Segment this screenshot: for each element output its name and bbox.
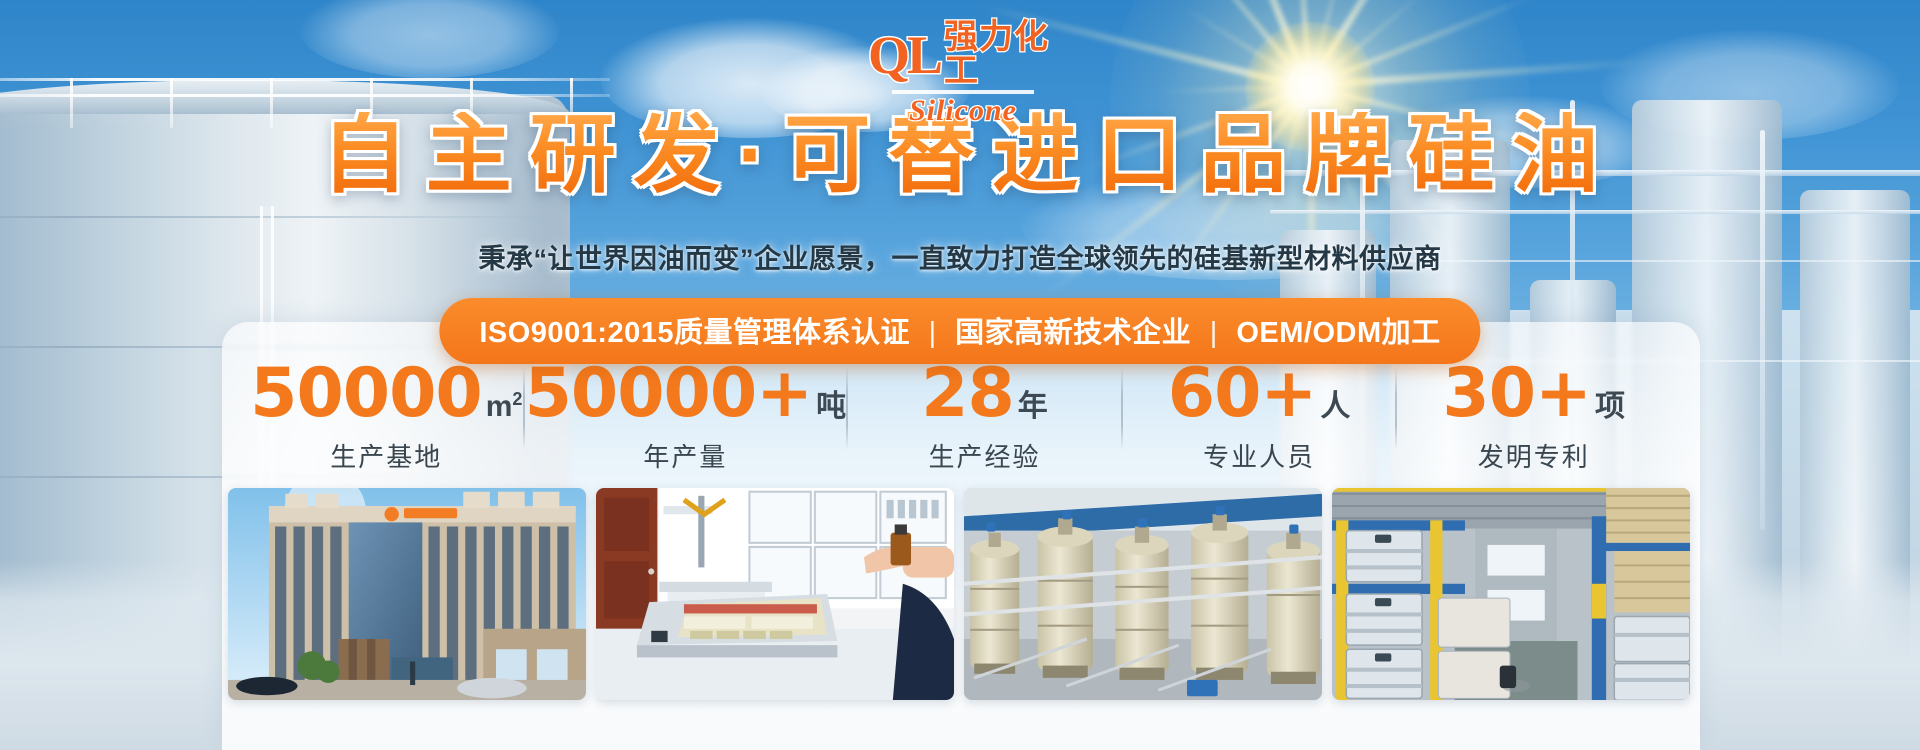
production-tanks-photo[interactable]: [964, 488, 1322, 700]
stat-unit-text: m: [486, 390, 513, 423]
stat-unit-text: 人: [1320, 390, 1350, 423]
photo-gallery: [228, 488, 1690, 700]
cert-separator: |: [1200, 317, 1228, 349]
stat-unit: 吨: [816, 392, 846, 422]
stat-number-row: 60+人: [1123, 360, 1396, 428]
logo-monogram: QL: [868, 28, 940, 82]
certification-badge: ISO9001:2015质量管理体系认证 | 国家高新技术企业 | OEM/OD…: [439, 298, 1480, 364]
hero-banner: QL 强力化工 Silicone 自主研发·可替进口品牌硅油 秉承“让世界因油而…: [0, 0, 1920, 750]
stat-number: 60+: [1168, 360, 1317, 428]
stat-number-row: 30+项: [1397, 360, 1670, 428]
stat-label: 专业人员: [1123, 437, 1396, 474]
stat-item: 30+项发明专利: [1397, 360, 1670, 474]
stat-unit: m2: [486, 390, 523, 422]
stat-label: 年产量: [525, 437, 847, 474]
company-logo[interactable]: QL 强力化工 Silicone: [868, 20, 1058, 112]
stat-number: 30+: [1442, 360, 1591, 428]
hero-subtitle: 秉承“让世界因油而变”企业愿景，一直致力打造全球领先的硅基新型材料供应商: [0, 237, 1920, 276]
cert-item-oem: OEM/ODM加工: [1236, 317, 1440, 349]
logo-script-name: Silicone: [909, 94, 1017, 128]
stat-label: 生产经验: [848, 437, 1121, 474]
stat-item: 60+人专业人员: [1123, 360, 1396, 474]
stat-label: 发明专利: [1397, 437, 1670, 474]
stat-number-row: 28年: [848, 360, 1121, 428]
logo-primary-row: QL 强力化工: [868, 20, 1058, 90]
stat-item: 28年生产经验: [848, 360, 1121, 474]
logo-chinese-name: 强力化工: [944, 20, 1058, 90]
laboratory-testing-photo[interactable]: [596, 488, 954, 700]
stat-unit-text: 吨: [816, 390, 846, 423]
stat-unit-text: 项: [1595, 390, 1625, 423]
stat-unit-text: 年: [1018, 390, 1048, 423]
stat-number: 50000: [250, 360, 482, 428]
stat-unit: 人: [1320, 392, 1350, 422]
warehouse-storage-photo[interactable]: [1332, 488, 1690, 700]
stat-number: 50000+: [525, 360, 813, 428]
stat-unit: 年: [1018, 392, 1048, 422]
cert-separator: |: [919, 317, 947, 349]
cert-item-hightech: 国家高新技术企业: [955, 317, 1191, 349]
cert-item-iso: ISO9001:2015质量管理体系认证: [479, 317, 910, 349]
stat-number-row: 50000+吨: [525, 360, 847, 428]
stat-unit: 项: [1595, 392, 1625, 422]
stat-number: 28: [921, 360, 1014, 428]
statistics-row: 50000m2生产基地50000+吨年产量28年生产经验60+人专业人员30+项…: [250, 360, 1670, 475]
stat-item: 50000m2生产基地: [250, 360, 523, 474]
stat-number-row: 50000m2: [250, 360, 523, 428]
stat-unit-superscript: 2: [512, 389, 522, 409]
stat-item: 50000+吨年产量: [525, 360, 847, 474]
office-building-photo[interactable]: [228, 488, 586, 700]
stat-label: 生产基地: [250, 437, 523, 474]
